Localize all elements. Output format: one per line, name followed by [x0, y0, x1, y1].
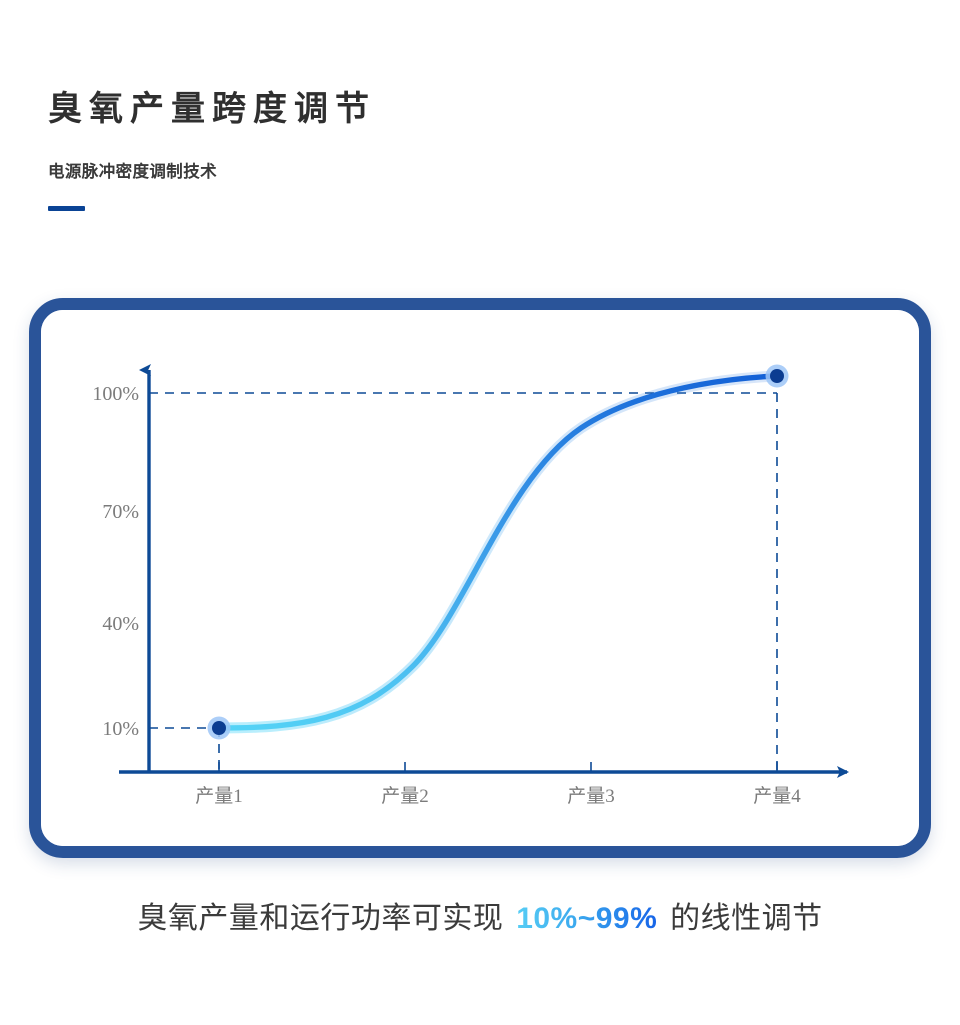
x-tick-label-3: 产量3: [567, 785, 615, 807]
data-point-marker-end[interactable]: [766, 365, 789, 388]
y-axis-tick-labels: 100% 70% 40% 10%: [92, 383, 139, 740]
chart-caption: 臭氧产量和运行功率可实现 10%~99% 的线性调节: [0, 897, 960, 941]
y-tick-label-100: 100%: [92, 383, 139, 405]
chart-card: 100% 70% 40% 10% 产量1 产量2 产量3 产量4: [29, 298, 931, 858]
caption-highlight-range: 10%~99%: [512, 902, 661, 935]
data-point-marker-start[interactable]: [208, 717, 231, 740]
chart-card-border: 100% 70% 40% 10% 产量1 产量2 产量3 产量4: [29, 298, 931, 858]
x-tick-label-1: 产量1: [195, 785, 243, 807]
accent-underline: [48, 206, 85, 211]
x-axis-tick-labels: 产量1 产量2 产量3 产量4: [195, 785, 801, 807]
caption-suffix: 的线性调节: [670, 902, 823, 935]
page-subtitle: 电源脉冲密度调制技术: [48, 160, 376, 184]
y-tick-label-70: 70%: [102, 501, 139, 523]
y-tick-label-40: 40%: [102, 613, 139, 635]
caption-prefix: 臭氧产量和运行功率可实现: [137, 902, 503, 935]
curve-glow: [219, 376, 777, 728]
page-root: 臭氧产量跨度调节 电源脉冲密度调制技术: [0, 0, 960, 1025]
x-tick-label-2: 产量2: [381, 785, 429, 807]
ozone-output-line-chart: 100% 70% 40% 10% 产量1 产量2 产量3 产量4: [41, 310, 919, 846]
page-header: 臭氧产量跨度调节 电源脉冲密度调制技术: [48, 86, 376, 211]
ozone-output-curve: [219, 376, 777, 728]
chart-canvas: 100% 70% 40% 10% 产量1 产量2 产量3 产量4: [41, 310, 919, 846]
y-tick-label-10: 10%: [102, 718, 139, 740]
page-title: 臭氧产量跨度调节: [48, 86, 376, 132]
x-tick-label-4: 产量4: [753, 785, 801, 807]
